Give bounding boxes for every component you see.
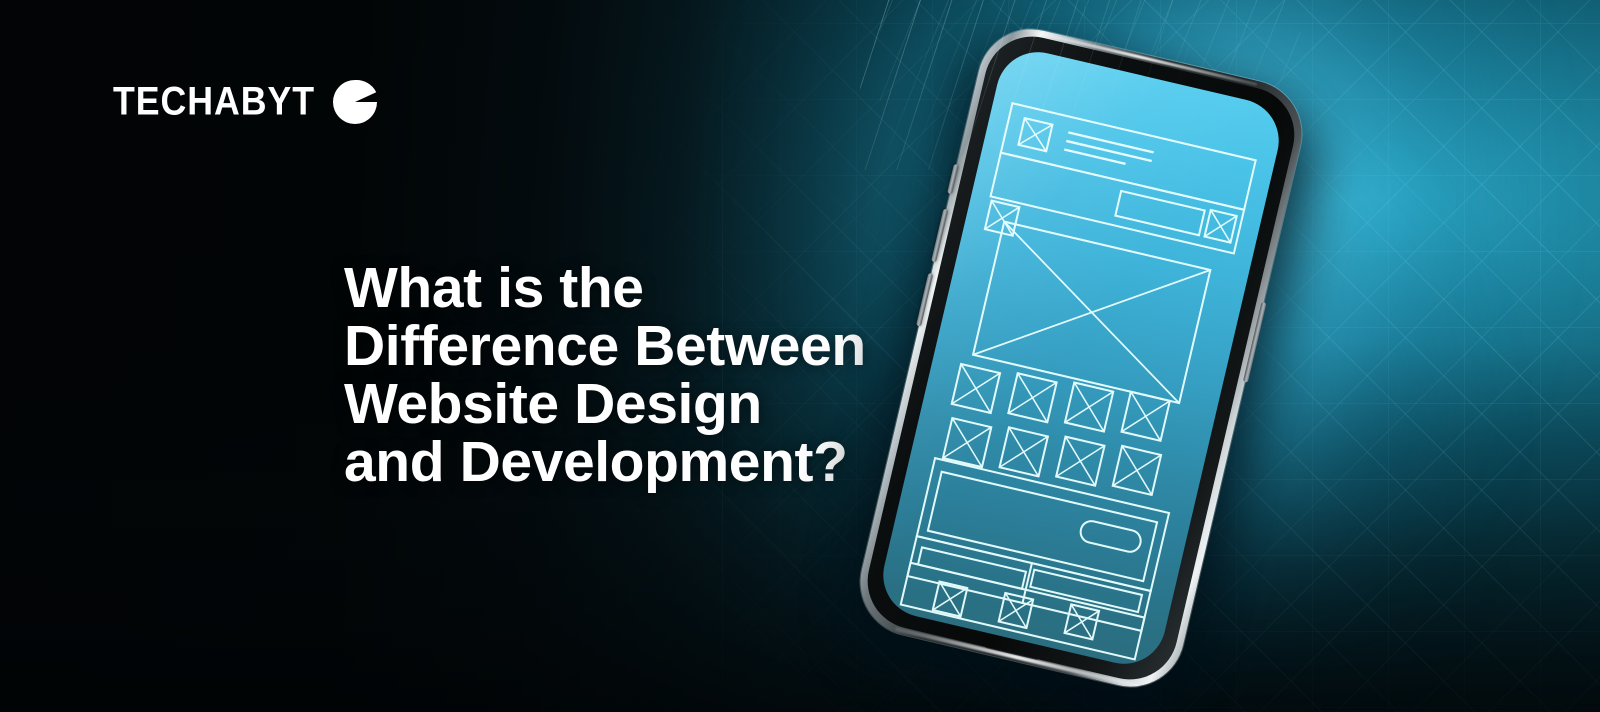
brand-logo[interactable]: TECHABYT	[113, 78, 378, 126]
wireframe-header-bar	[1001, 103, 1256, 209]
brand-wordmark: TECHABYT	[113, 82, 315, 122]
wireframe-icon-grid-row-1	[952, 353, 1170, 453]
banner-root: TECHABYT What is the Difference Between …	[0, 0, 1600, 712]
wireframe-pill-button	[1078, 519, 1142, 554]
wireframe-icon-grid-row-2	[943, 407, 1161, 507]
headline-line-1: What is the	[344, 259, 984, 317]
pacman-circle-mark	[332, 79, 378, 125]
wireframe-hero-image	[973, 222, 1210, 403]
wireframe-search-row	[991, 153, 1245, 254]
